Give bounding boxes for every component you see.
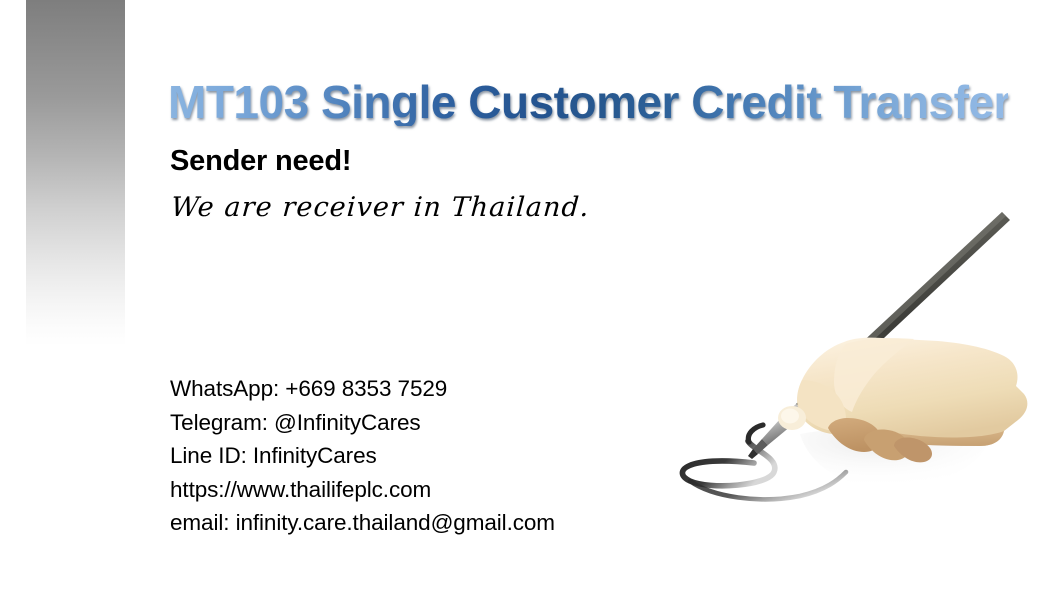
contact-details-block: WhatsApp: +669 8353 7529 Telegram: @Infi… [170, 372, 555, 540]
contact-line-line-id: Line ID: InfinityCares [170, 439, 555, 473]
page-title: MT103 Single Customer Credit Transfer [168, 78, 1008, 126]
hand-writing-with-pen-icon [650, 196, 1050, 536]
script-subtitle-text: We are receiver in Thailand. [170, 192, 591, 223]
contact-line-website[interactable]: https://www.thailifeplc.com [170, 473, 555, 507]
contact-line-whatsapp: WhatsApp: +669 8353 7529 [170, 372, 555, 406]
slide-canvas: MT103 Single Customer Credit Transfer Se… [0, 0, 1063, 600]
headline-text: Sender need! [170, 145, 351, 178]
contact-line-telegram: Telegram: @InfinityCares [170, 406, 555, 440]
contact-line-email[interactable]: email: infinity.care.thailand@gmail.com [170, 506, 555, 540]
left-gradient-bar [26, 0, 125, 346]
